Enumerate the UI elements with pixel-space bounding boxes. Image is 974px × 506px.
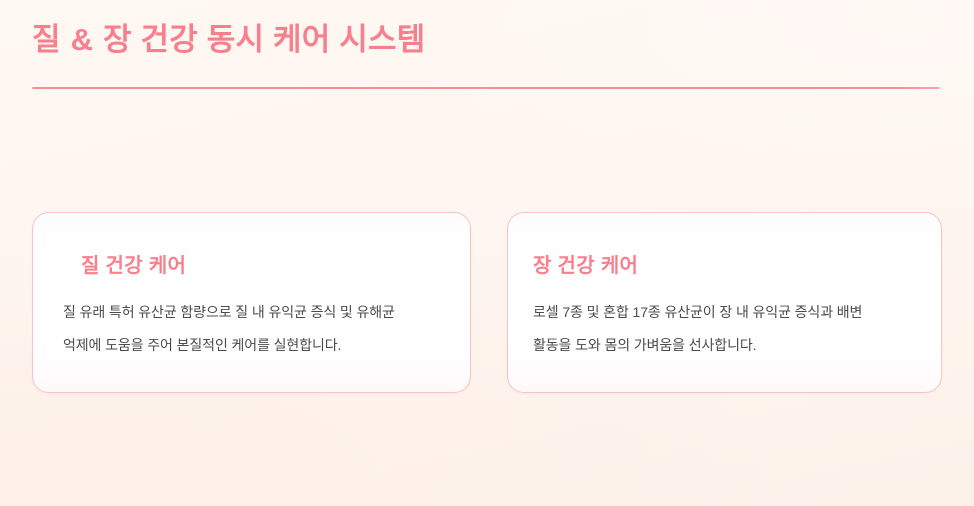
card-body-gut-health: 로셀 7종 및 혼합 17종 유산균이 장 내 유익균 증식과 배변 활동을 도… [533,296,923,362]
card-body-line: 활동을 도와 몸의 가벼움을 선사합니다. [533,329,923,362]
page-title-part-2: 장 건강 동시 케어 시스템 [103,22,425,57]
page-title-ampersand: & [70,22,95,57]
card-body-line: 로셀 7종 및 혼합 17종 유산균이 장 내 유익균 증식과 배변 [533,296,923,329]
card-body-vaginal-health: 질 유래 특허 유산균 함량으로 질 내 유익균 증식 및 유해균 억제에 도움… [63,296,448,362]
feature-card-list: 질 건강 케어 질 유래 특허 유산균 함량으로 질 내 유익균 증식 및 유해… [32,212,942,393]
card-body-line: 억제에 도움을 주어 본질적인 케어를 실현합니다. [63,329,448,362]
page-title: 질 & 장 건강 동시 케어 시스템 [32,18,940,62]
card-heading-gut-health: 장 건강 케어 [533,252,638,280]
card-heading-vaginal-health: 질 건강 케어 [81,252,186,280]
feature-card-gut-health: 장 건강 케어 로셀 7종 및 혼합 17종 유산균이 장 내 유익균 증식과 … [507,212,942,393]
section-header: 질 & 장 건강 동시 케어 시스템 [32,18,940,62]
feature-card-vaginal-health: 질 건강 케어 질 유래 특허 유산균 함량으로 질 내 유익균 증식 및 유해… [32,212,471,393]
title-underline-divider [32,87,940,89]
card-body-line: 질 유래 특허 유산균 함량으로 질 내 유익균 증식 및 유해균 [63,296,448,329]
promo-section: 질 & 장 건강 동시 케어 시스템 질 건강 케어 질 유래 특허 유산균 함… [0,0,974,506]
page-title-part-1: 질 [32,22,61,57]
